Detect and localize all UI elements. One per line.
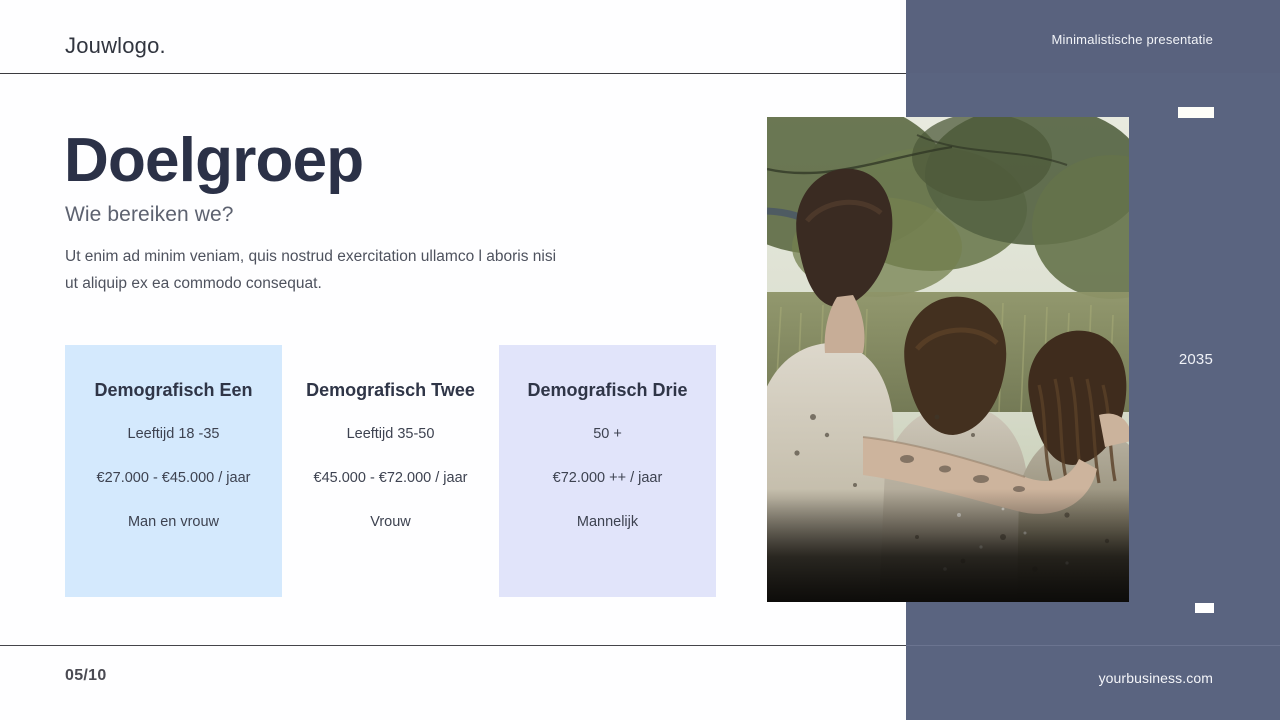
panel-marker-bottom-icon: [1195, 603, 1214, 613]
card-income: €45.000 - €72.000 / jaar: [282, 470, 499, 486]
panel-caption: Minimalistische presentatie: [1052, 32, 1213, 47]
card-title: Demografisch Een: [65, 379, 282, 402]
page-subtitle: Wie bereiken we?: [65, 203, 234, 227]
demographic-card: Demografisch Twee Leeftijd 35-50 €45.000…: [282, 345, 499, 597]
panel-marker-top-icon: [1178, 107, 1214, 118]
page-number: 05/10: [65, 667, 107, 685]
page-title: Doelgroep: [64, 128, 363, 195]
card-income: €72.000 ++ / jaar: [499, 470, 716, 486]
header-divider: [0, 73, 906, 74]
body-paragraph: Ut enim ad minim veniam, quis nostrud ex…: [65, 243, 565, 297]
footer-divider: [0, 645, 906, 646]
card-gender: Mannelijk: [499, 514, 716, 530]
card-age: Leeftijd 18 -35: [65, 426, 282, 442]
demographic-card: Demografisch Een Leeftijd 18 -35 €27.000…: [65, 345, 282, 597]
card-age: Leeftijd 35-50: [282, 426, 499, 442]
demographic-card: Demografisch Drie 50 + €72.000 ++ / jaar…: [499, 345, 716, 597]
card-gender: Man en vrouw: [65, 514, 282, 530]
logo: Jouwlogo.: [65, 33, 166, 59]
demographic-card-group: Demografisch Een Leeftijd 18 -35 €27.000…: [65, 345, 716, 597]
panel-year: 2035: [1179, 351, 1213, 368]
panel-footer-divider: [906, 645, 1280, 646]
card-title: Demografisch Twee: [282, 379, 499, 402]
card-gender: Vrouw: [282, 514, 499, 530]
panel-website: yourbusiness.com: [1099, 670, 1213, 686]
presentation-slide: Minimalistische presentatie 2035 yourbus…: [0, 0, 1280, 720]
card-age: 50 +: [499, 426, 716, 442]
hero-photo: [767, 117, 1129, 602]
card-income: €27.000 - €45.000 / jaar: [65, 470, 282, 486]
card-title: Demografisch Drie: [499, 379, 716, 402]
